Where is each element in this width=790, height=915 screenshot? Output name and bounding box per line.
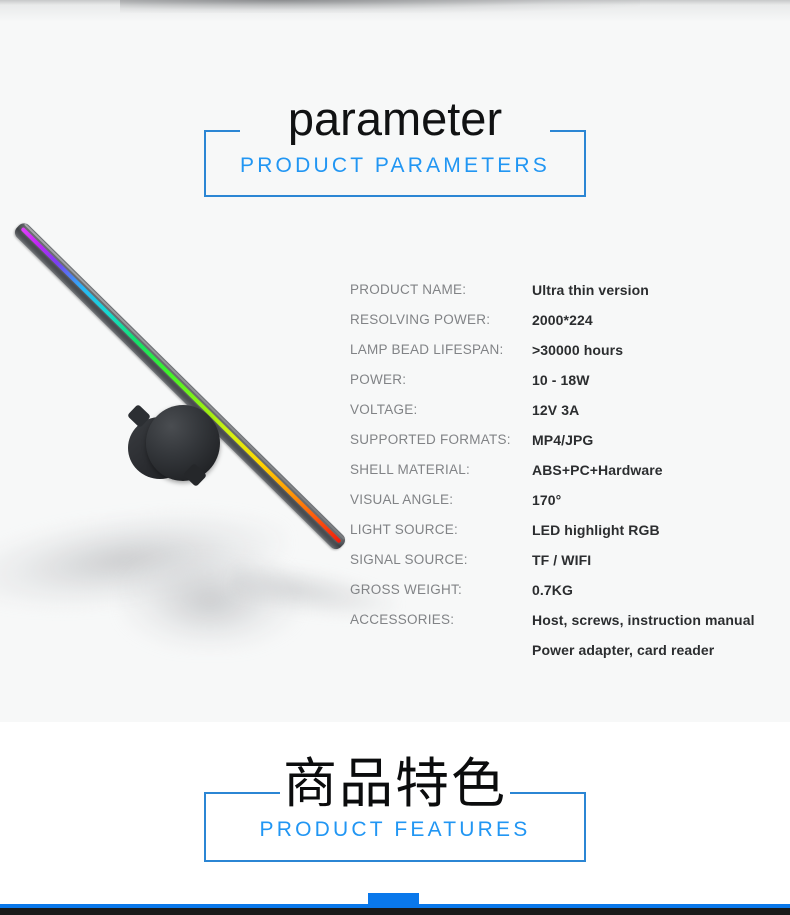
specification-list: PRODUCT NAME: Ultra thin version RESOLVI…: [350, 281, 790, 641]
spec-label: PRODUCT NAME:: [350, 281, 466, 299]
spec-row-signal-source: SIGNAL SOURCE: TF / WIFI: [350, 551, 790, 581]
spec-row-gross-weight: GROSS WEIGHT: 0.7KG: [350, 581, 790, 611]
top-edge-shadow: [0, 0, 790, 26]
spec-label: ACCESSORIES:: [350, 611, 454, 629]
spec-value: LED highlight RGB: [532, 521, 660, 539]
parameters-subtitle: PRODUCT PARAMETERS: [0, 154, 790, 178]
spec-value: TF / WIFI: [532, 551, 591, 569]
spec-row-visual-angle: VISUAL ANGLE: 170°: [350, 491, 790, 521]
spec-row-accessories: ACCESSORIES: Host, screws, instruction m…: [350, 611, 790, 641]
features-title: 商品特色: [0, 755, 790, 813]
hub-front-housing: [146, 405, 220, 481]
spec-value: MP4/JPG: [532, 431, 593, 449]
spec-row-voltage: VOLTAGE: 12V 3A: [350, 401, 790, 431]
spec-row-supported-formats: SUPPORTED FORMATS: MP4/JPG: [350, 431, 790, 461]
spec-row-lamp-bead-lifespan: LAMP BEAD LIFESPAN: >30000 hours: [350, 341, 790, 371]
spec-label: GROSS WEIGHT:: [350, 581, 462, 599]
bottom-dark-strip: [0, 908, 790, 915]
product-parameters-section: parameter PRODUCT PARAMETERS PRODUCT NAM…: [0, 0, 790, 722]
spec-label: LIGHT SOURCE:: [350, 521, 458, 539]
spec-label: SHELL MATERIAL:: [350, 461, 470, 479]
spec-label: SIGNAL SOURCE:: [350, 551, 468, 569]
spec-value: >30000 hours: [532, 341, 623, 359]
spec-label: SUPPORTED FORMATS:: [350, 431, 511, 449]
spec-label: VOLTAGE:: [350, 401, 418, 419]
spec-label: LAMP BEAD LIFESPAN:: [350, 341, 504, 359]
spec-value: 10 - 18W: [532, 371, 590, 389]
motor-hub: [128, 405, 220, 493]
features-subtitle: PRODUCT FEATURES: [0, 818, 790, 842]
spec-row-shell-material: SHELL MATERIAL: ABS+PC+Hardware: [350, 461, 790, 491]
spec-value: Ultra thin version: [532, 281, 649, 299]
spec-row-resolving-power: RESOLVING POWER: 2000*224: [350, 311, 790, 341]
spec-row-power: POWER: 10 - 18W: [350, 371, 790, 401]
spec-row-light-source: LIGHT SOURCE: LED highlight RGB: [350, 521, 790, 551]
spec-value: Host, screws, instruction manual: [532, 611, 755, 629]
spec-value: 0.7KG: [532, 581, 573, 599]
spec-label: RESOLVING POWER:: [350, 311, 490, 329]
spec-value: ABS+PC+Hardware: [532, 461, 663, 479]
parameters-title: parameter: [0, 93, 790, 145]
product-features-section: 商品特色 PRODUCT FEATURES: [0, 722, 790, 915]
spec-value: 12V 3A: [532, 401, 579, 419]
spec-value: 2000*224: [532, 311, 593, 329]
spec-label: POWER:: [350, 371, 406, 389]
spec-label: VISUAL ANGLE:: [350, 491, 453, 509]
spec-value-secondary: Power adapter, card reader: [532, 641, 714, 659]
spec-row-product-name: PRODUCT NAME: Ultra thin version: [350, 281, 790, 311]
spec-value: 170°: [532, 491, 561, 509]
